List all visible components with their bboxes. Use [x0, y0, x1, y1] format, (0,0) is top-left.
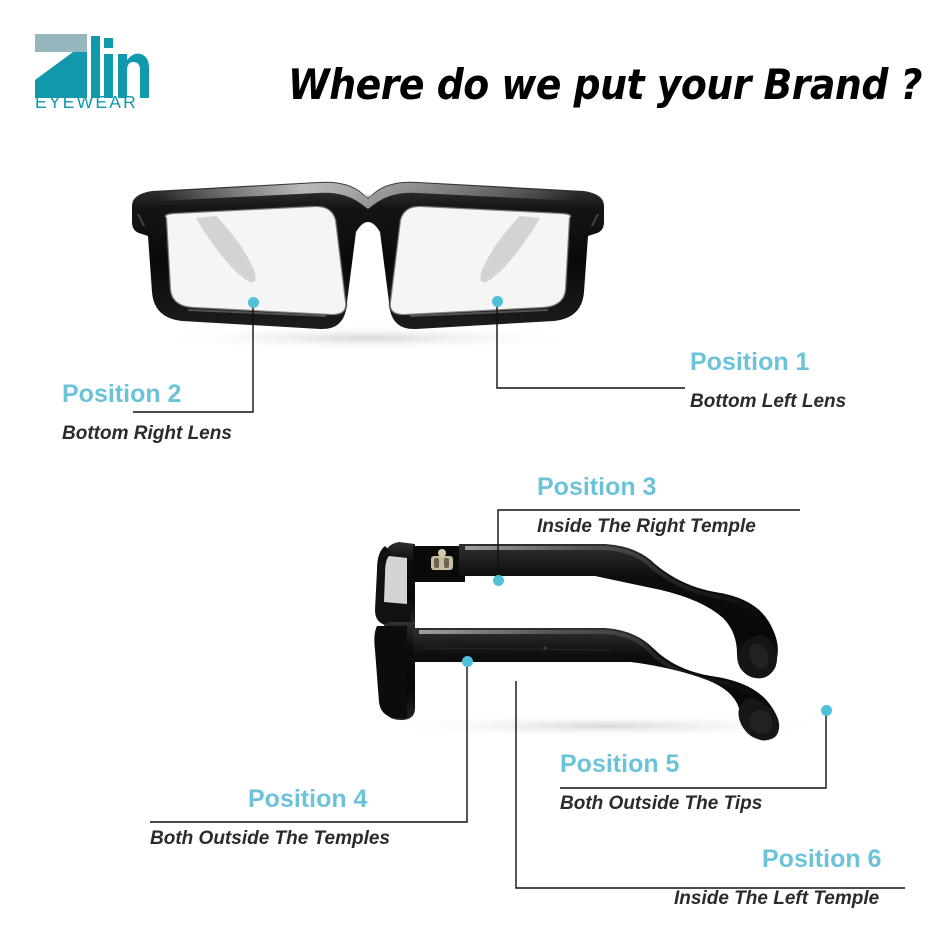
position-label-1: Position 1: [690, 348, 846, 377]
position-description-6: Inside The Left Temple: [674, 888, 881, 910]
zlin-eyewear-logo: EYEWEAR: [33, 28, 163, 110]
position-label-5: Position 5: [560, 750, 762, 779]
callout-position-2: Position 2 Bottom Right Lens: [62, 380, 232, 445]
eyeglasses-front-view: [118, 170, 618, 360]
position-description-3: Inside The Right Temple: [537, 516, 756, 538]
position-description-4: Both Outside The Temples: [150, 828, 390, 850]
anchor-dot-position-4[interactable]: [462, 656, 473, 667]
position-label-2: Position 2: [62, 380, 232, 409]
page-title: Where do we put your Brand ?: [275, 60, 935, 109]
callout-position-6: Position 6 Inside The Left Temple: [762, 845, 881, 910]
position-label-6: Position 6: [762, 845, 881, 874]
position-description-2: Bottom Right Lens: [62, 423, 232, 445]
callout-position-4: Position 4 Both Outside The Temples: [248, 785, 390, 850]
position-label-4: Position 4: [248, 785, 390, 814]
anchor-dot-position-1[interactable]: [492, 296, 503, 307]
leader-lines: [0, 0, 950, 950]
anchor-dot-position-2[interactable]: [248, 297, 259, 308]
position-label-3: Position 3: [537, 473, 756, 502]
anchor-dot-position-3[interactable]: [493, 575, 504, 586]
callout-position-1: Position 1 Bottom Left Lens: [690, 348, 846, 413]
brand-placement-infographic: EYEWEAR EYEWEAR Where do we put your Bra…: [0, 0, 950, 950]
anchor-dot-position-5[interactable]: [821, 705, 832, 716]
callout-position-5: Position 5 Both Outside The Tips: [560, 750, 762, 815]
position-description-1: Bottom Left Lens: [690, 391, 846, 413]
logo-tagline: EYEWEAR: [35, 92, 138, 110]
position-description-5: Both Outside The Tips: [560, 793, 762, 815]
callout-position-3: Position 3 Inside The Right Temple: [537, 473, 756, 538]
eyeglasses-side-view: [355, 530, 875, 745]
